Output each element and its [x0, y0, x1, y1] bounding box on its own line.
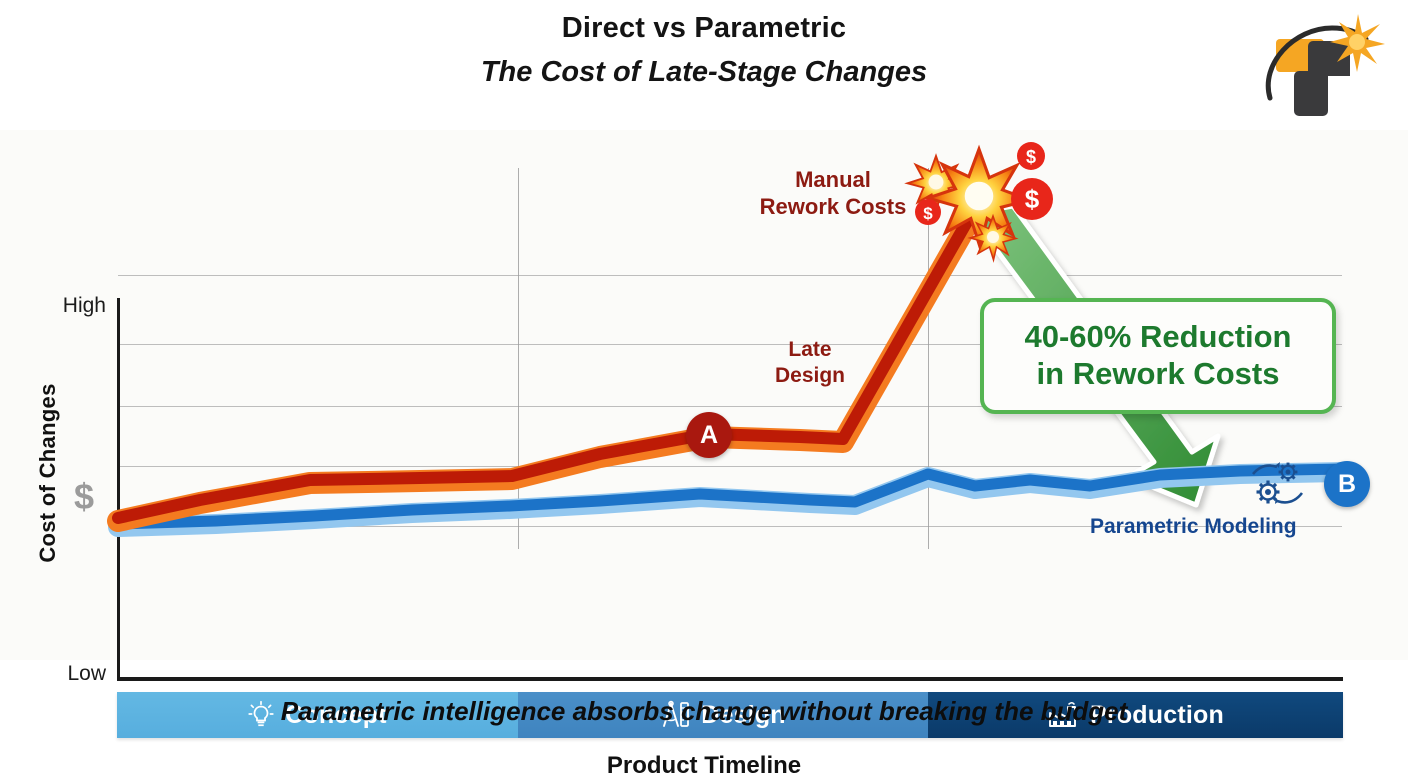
header: Direct vs Parametric The Cost of Late-St… [0, 10, 1408, 92]
y-axis-line [117, 298, 120, 681]
reduction-callout: 40-60% Reduction in Rework Costs [980, 298, 1336, 414]
page-subtitle: The Cost of Late-Stage Changes [0, 53, 1408, 92]
footer-caption: Parametric intelligence absorbs change w… [0, 696, 1408, 727]
gridline [118, 466, 1342, 467]
manual-rework-line1: Manual [795, 167, 871, 192]
y-axis-currency-glyph: $ [74, 476, 94, 518]
manual-rework-label: Manual Rework Costs [738, 167, 928, 221]
marker-b-label: B [1338, 470, 1356, 499]
x-axis-title: Product Timeline [0, 752, 1408, 780]
x-axis-line [117, 677, 1343, 681]
late-design-line1: Late [788, 338, 831, 361]
callout-line-2: in Rework Costs [1037, 356, 1280, 393]
callout-line-1: 40-60% Reduction [1024, 319, 1291, 356]
phase-divider-concept-design [518, 168, 519, 549]
company-logo [1258, 6, 1386, 128]
y-axis-title: Cost of Changes [35, 363, 61, 583]
parametric-modeling-label: Parametric Modeling [1090, 515, 1297, 539]
marker-a[interactable]: A [686, 412, 732, 458]
y-axis-low-label: Low [16, 662, 106, 686]
late-design-line2: Design [775, 364, 845, 387]
page-title: Direct vs Parametric [0, 10, 1408, 47]
manual-rework-line2: Rework Costs [760, 194, 907, 219]
late-design-label: Late Design [750, 337, 870, 389]
phase-divider-design-production [928, 168, 929, 549]
marker-a-label: A [700, 421, 718, 450]
infographic-root: Direct vs Parametric The Cost of Late-St… [0, 0, 1408, 768]
gridline [118, 275, 1342, 276]
y-axis-high-label: High [16, 294, 106, 318]
marker-b[interactable]: B [1324, 461, 1370, 507]
